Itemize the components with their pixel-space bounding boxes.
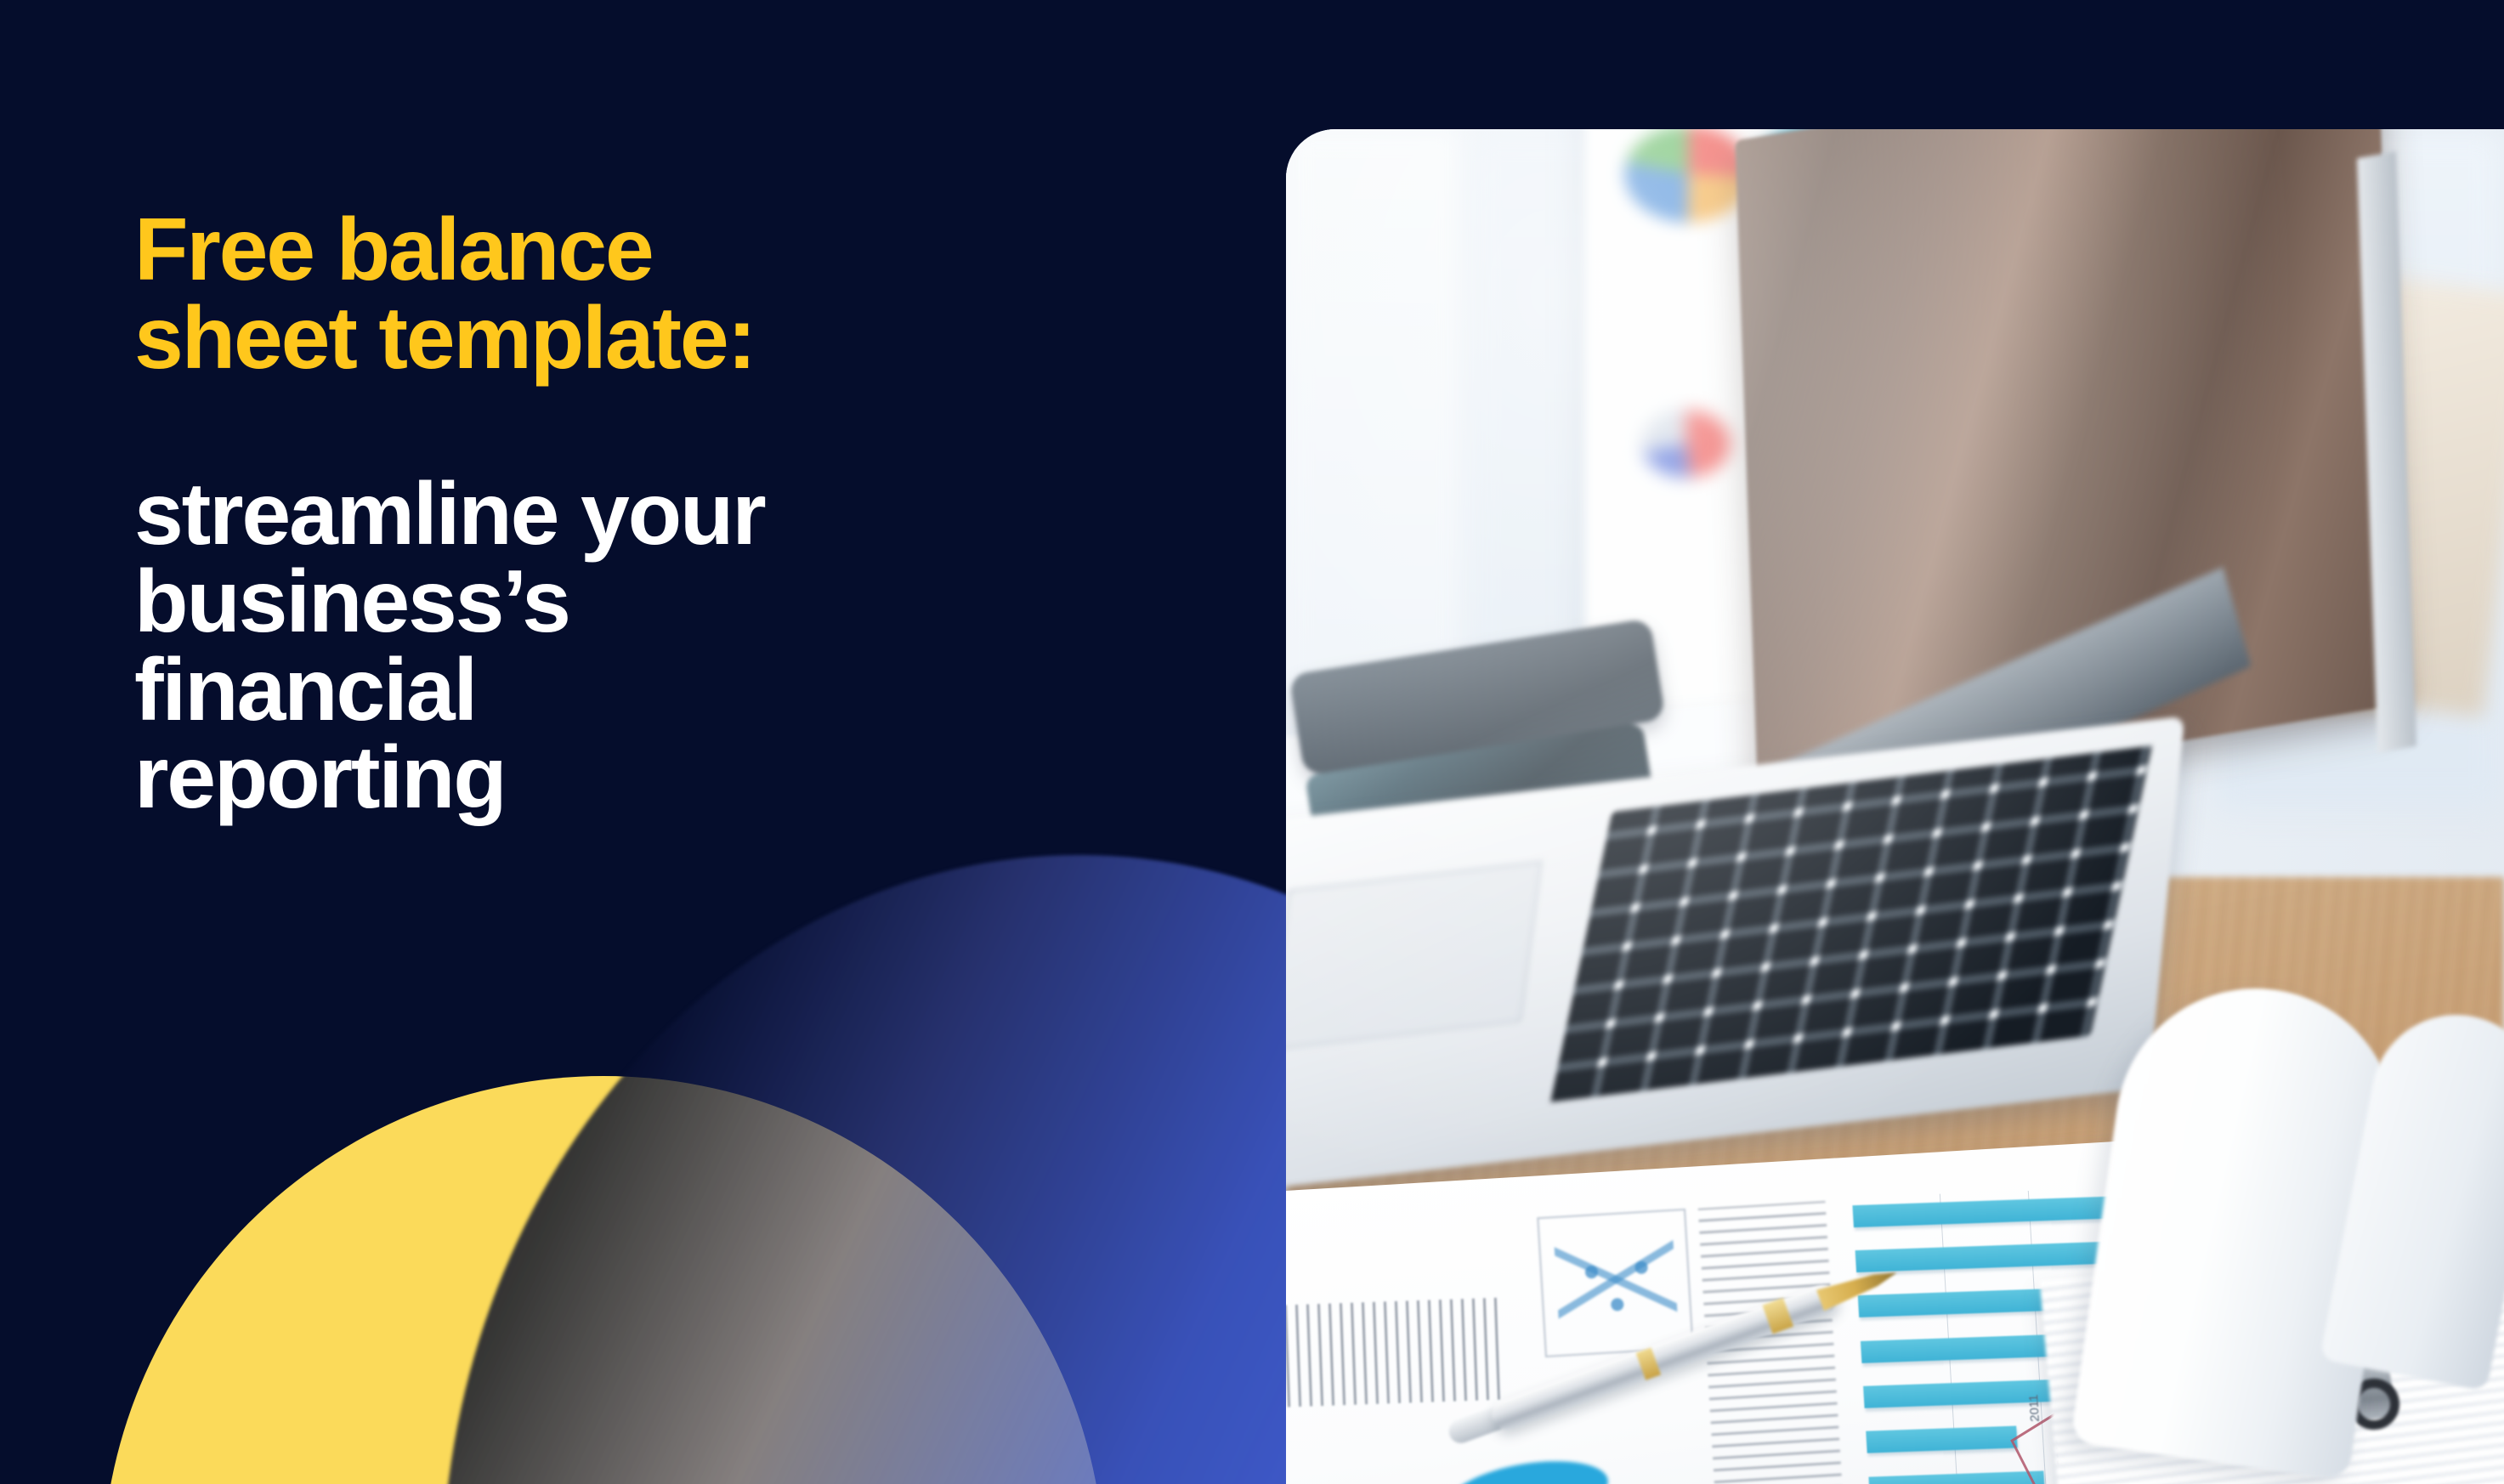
pie-chart-icon: [1624, 129, 1752, 223]
page-title: Free balance sheet template: streamline …: [134, 119, 1086, 910]
yellow-circle-shape: [102, 1076, 1105, 1484]
report-body-text-left: [1286, 1298, 1500, 1408]
pie-chart-icon-3: [1641, 410, 1731, 478]
hero-photo: 201620152014201320122011201020092008: [1286, 129, 2504, 1484]
headline-highlight: Free balance sheet template:: [134, 207, 1086, 382]
blue-gradient-shape: [442, 855, 1326, 1484]
laptop-trackpad: [1286, 861, 1542, 1051]
headline-subtext: streamline your business’s financial rep…: [134, 471, 1086, 823]
report-network-diagram: [1554, 1235, 1677, 1323]
hero-banner: Free balance sheet template: streamline …: [0, 0, 2504, 1484]
